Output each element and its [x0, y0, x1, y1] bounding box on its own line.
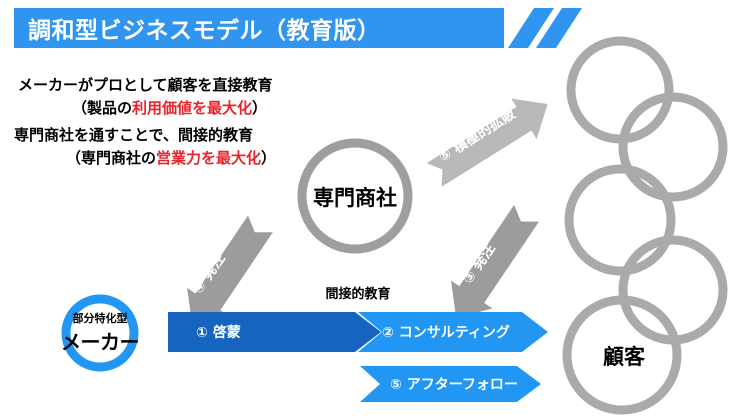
customer-circle-2 [623, 97, 723, 197]
lead-line-3: 専門商社を通すことで、間接的教育 [14, 128, 253, 143]
customer-circle-1 [571, 41, 669, 139]
lead-line-2-suffix: ） [252, 99, 267, 117]
lead-line-4-prefix: （専門商社の [66, 149, 156, 167]
indirect-education-caption: 間接的教育 [303, 283, 413, 302]
arrow-step-5-expand [421, 84, 560, 196]
chevron-step-1-label: ① 啓蒙 [196, 312, 241, 352]
chevron-step-2-label: ② コンサルティング [382, 312, 510, 352]
customer-label: 顧客 [578, 341, 670, 371]
lead-line-2-highlight: 利用価値を最大化 [132, 99, 252, 117]
lead-line-2: （製品の利用価値を最大化） [72, 101, 267, 116]
slide-canvas: 調和型ビジネスモデル（教育版） メーカーがプロとして顧客を直接教育 （製品の利用… [0, 0, 746, 418]
lead-line-1: メーカーがプロとして顧客を直接教育 [18, 78, 273, 93]
trading-company-label: 専門商社 [296, 182, 414, 212]
customer-circle-3 [569, 169, 671, 271]
lead-line-2-prefix: （製品の [72, 99, 132, 117]
lead-line-4: （専門商社の営業力を最大化） [66, 151, 276, 166]
maker-qualifier-label: 部分特化型 [48, 310, 152, 326]
lead-line-4-suffix: ） [261, 149, 276, 167]
lead-line-4-highlight: 営業力を最大化 [156, 149, 261, 167]
maker-label: メーカー [40, 326, 160, 355]
page-title: 調和型ビジネスモデル（教育版） [28, 10, 498, 46]
chevron-step-5-follow-label: ⑤ アフターフォロー [390, 366, 518, 402]
